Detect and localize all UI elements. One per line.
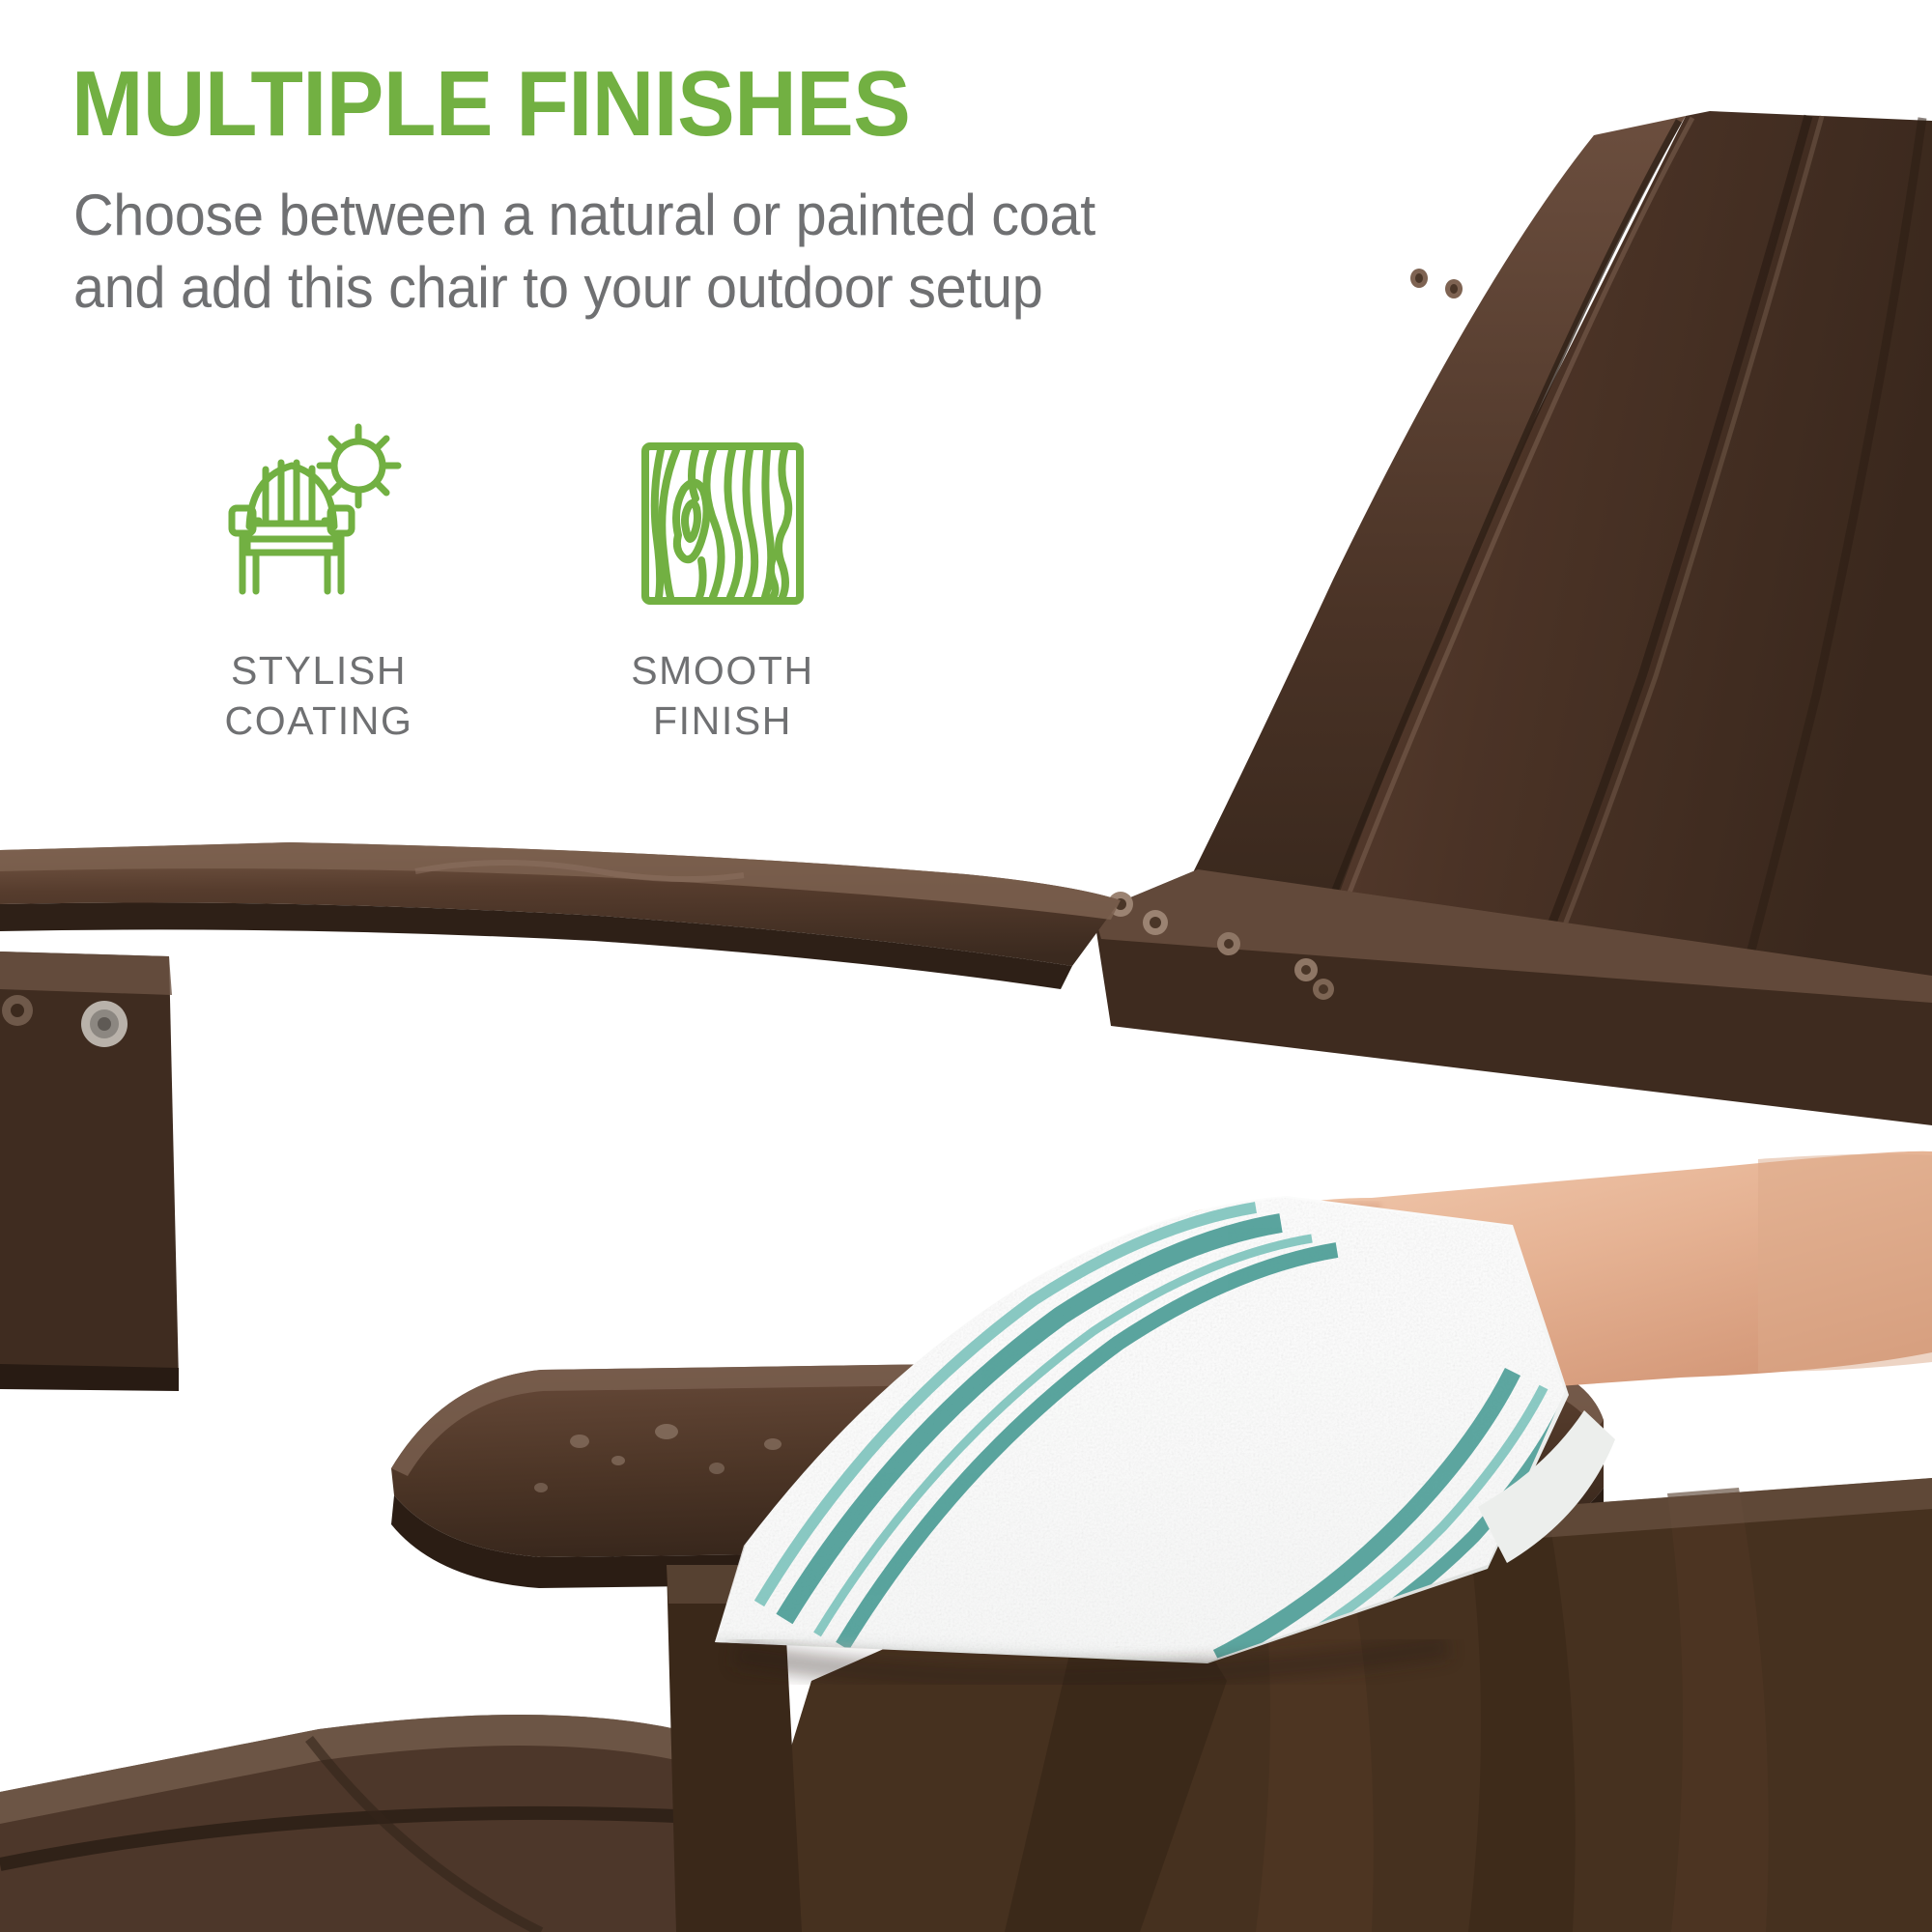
marketing-infographic: MULTIPLE FINISHES Choose between a natur…: [0, 0, 1932, 1932]
feature-stylish-coating: STYLISH COATING: [174, 401, 464, 747]
towel-stripes-upper: [759, 1207, 1337, 1646]
screw-group-back: [1108, 269, 1463, 1000]
water-droplets: [534, 1406, 1283, 1492]
chair-leg-front: [667, 1565, 802, 1932]
feature-smooth-finish: SMOOTH FINISH: [578, 401, 867, 747]
hand: [1146, 1151, 1932, 1401]
subtitle-line-1: Choose between a natural or painted coat: [73, 179, 1095, 251]
feature-list: STYLISH COATING: [174, 401, 867, 747]
chair-seat-board-front: [391, 1356, 1604, 1588]
page-title: MULTIPLE FINISHES: [71, 58, 910, 151]
subtitle-line-2: and add this chair to your outdoor setup: [73, 251, 1095, 324]
chair-seat-slats-left: [0, 1715, 676, 1932]
screw-group-side: [2, 995, 128, 1047]
subtitle: Choose between a natural or painted coat…: [73, 179, 1095, 324]
feature-label: SMOOTH FINISH: [631, 645, 814, 747]
chair-armrest-left: [0, 842, 1121, 989]
feature-label: STYLISH COATING: [225, 645, 413, 747]
chair-back-lower-rail: [1094, 869, 1932, 1125]
chair-side-panel-left: [0, 952, 179, 1391]
towel-stripes-lower: [1217, 1372, 1567, 1667]
chair-with-sun-icon: [208, 401, 430, 609]
towel: [676, 1159, 1615, 1700]
chair-backrest: [1125, 111, 1932, 1092]
wood-grain-icon: [611, 401, 834, 609]
chair-seat-slats-right: [734, 1478, 1932, 1932]
